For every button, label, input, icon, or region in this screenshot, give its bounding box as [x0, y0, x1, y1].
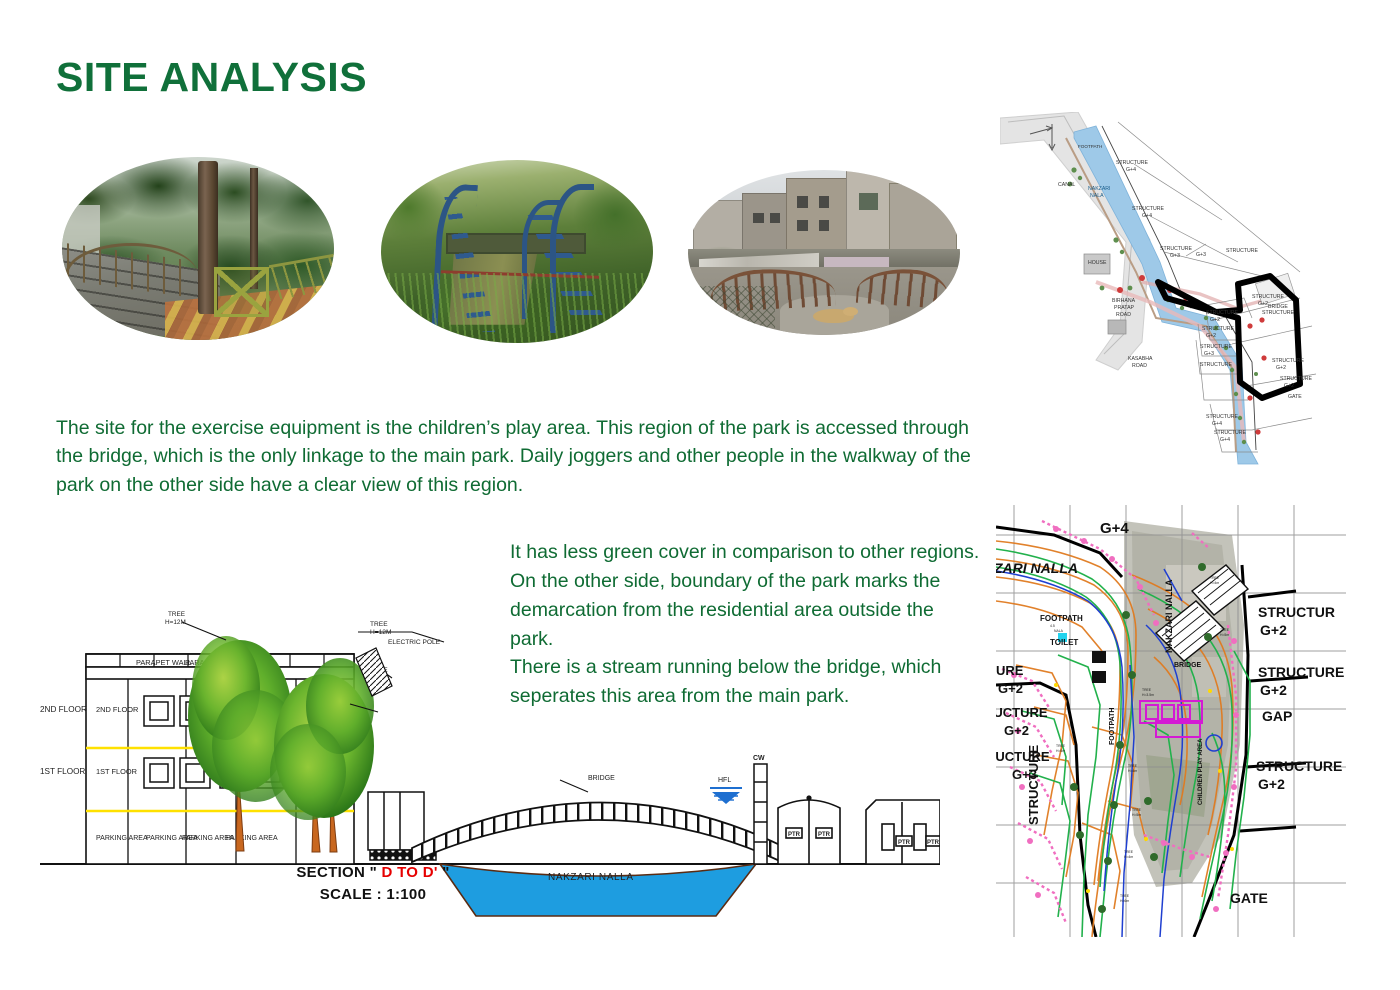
svg-text:TREE: TREE: [1220, 628, 1230, 632]
label-floor-2-inner: 2ND FLOOR: [96, 705, 138, 714]
label-ptr-4: PTR: [927, 840, 940, 846]
section-scale: SCALE : 1:100: [258, 884, 488, 906]
map-label-house: HOUSE: [1088, 260, 1107, 266]
map-label-structure-g4-a-val: G+4: [1126, 167, 1136, 173]
map-label-structure-g4-b-val: G+4: [1142, 213, 1152, 219]
label-parking-4: PARKING AREA: [226, 835, 278, 842]
map-label-structure-g4-e: STRUCTURE: [1214, 430, 1247, 436]
svg-text:TREE: TREE: [1124, 850, 1134, 854]
map-label-structure-g2-a: STRUCTURE: [1252, 294, 1285, 300]
section-drawing: PARAPET WALL PARAPET WALL 2ND FLOOR 1ST …: [40, 596, 940, 926]
label-ptr-2: PTR: [818, 832, 831, 838]
section-caption: SECTION " D TO D' " SCALE : 1:100: [258, 862, 488, 906]
map-label-kasabha-1: KASABHA: [1128, 356, 1153, 362]
svg-text:H=5m: H=5m: [1132, 813, 1141, 817]
svg-text:H=4m: H=4m: [1128, 769, 1137, 773]
play-equipment-photo: [381, 160, 653, 343]
section-marker: D TO D': [382, 864, 438, 881]
label-parapet-1: PARAPET WALL: [136, 658, 192, 667]
map-label-structure-g4-d-val: G+4: [1212, 421, 1222, 427]
map-label-bridge: BRIDGE: [1268, 304, 1288, 310]
map-label-structure-g3: STRUCTURE: [1160, 246, 1193, 252]
map-label-structure-d: STRUCTURE: [1200, 362, 1233, 368]
map-label-structure-g3-b: G+3: [1196, 252, 1206, 258]
map-label-structure-g4-b: STRUCTURE: [1132, 206, 1165, 212]
bridge-arch: [412, 802, 782, 862]
label-floor-1-inner: 1ST FLOOR: [96, 767, 137, 776]
page-title: SITE ANALYSIS: [56, 54, 367, 101]
cad-label-structure-left-c: RUCTURE: [996, 749, 1050, 764]
svg-text:H=5m: H=5m: [1220, 633, 1229, 637]
map-label-structure-g4-e-val: G+4: [1220, 437, 1230, 443]
locality-site-plan: STRUCTURE G+4 STRUCTURE G+4 STRUCTURE G+…: [1000, 112, 1355, 472]
map-label-nakzari-nala: NAKZARI: [1088, 186, 1110, 192]
cad-label-g4: G+4: [1100, 520, 1129, 537]
cad-label-footpath: FOOTPATH: [1040, 614, 1083, 623]
label-tree-tall: TREE: [168, 611, 185, 618]
label-parking-1: PARKING AREA: [96, 835, 148, 842]
label-cw-left: CW: [753, 755, 765, 762]
map-label-gate: GATE: [1288, 394, 1302, 400]
cad-label-structure-left-b: RUCTURE: [996, 705, 1048, 720]
svg-text:TREE: TREE: [1128, 764, 1138, 768]
map-label-birhana-2: PRATAP: [1114, 305, 1135, 311]
label-tree-tall-h: H=12M: [165, 619, 186, 626]
label-ptr-1: PTR: [788, 832, 801, 838]
map-label-structure-g2-e-val: G+2: [1276, 365, 1286, 371]
map-label-birhana-3: ROAD: [1116, 312, 1131, 318]
label-floor-2-outer: 2ND FLOOR: [40, 705, 87, 714]
map-label-kasabha-2: ROAD: [1132, 363, 1147, 369]
bridge-stairway-photo: [62, 157, 334, 340]
map-label-structure-g3-c-val: G+3: [1204, 351, 1214, 357]
map-label-structure-g2-f-val: G+2: [1284, 383, 1294, 389]
section-caption-prefix: SECTION ": [296, 864, 381, 881]
label-electric-pole: ELECTRIC POLE: [388, 639, 441, 646]
section-caption-suffix: ": [438, 864, 450, 881]
cw-post-left: [754, 764, 767, 864]
shed-b: [866, 800, 940, 864]
map-label-structure-g2-a-val: G+2: [1258, 301, 1268, 307]
svg-text:H=5m: H=5m: [1056, 749, 1065, 753]
site-description-paragraph: The site for the exercise equipment is t…: [56, 414, 986, 499]
cad-label-gate: GATE: [1230, 890, 1268, 906]
label-tree-right-h: H=12M: [370, 629, 391, 636]
map-label-structure-g2-c-val: G+2: [1206, 333, 1216, 339]
label-nakzari-nalla: NAKZARI NALLA: [548, 872, 634, 883]
map-label-structure-g2-b: STRUCTURE: [1206, 310, 1239, 316]
label-tree-right: TREE: [370, 621, 388, 628]
cad-label-structure-g2-a: STRUCTURE: [1258, 664, 1344, 680]
map-label-canal: CANAL: [1058, 182, 1075, 188]
cad-label-structure-g2-a-val: G+2: [1260, 682, 1287, 698]
svg-text:H=3.5m: H=3.5m: [1142, 693, 1154, 697]
label-floor-1-outer: 1ST FLOOR: [40, 767, 85, 776]
cad-label-nakzari-nalla-vertical: NAKZARI NALLA: [1164, 579, 1174, 653]
svg-text:NALA: NALA: [1054, 629, 1064, 633]
cad-label-structure-g2-b-val: G+2: [1258, 776, 1285, 792]
map-label-structure-g3-val: G+3: [1170, 253, 1180, 259]
residential-edge-photo: [688, 170, 960, 335]
cad-label-structure-vertical: STRUCTURE: [1026, 745, 1041, 825]
cad-label-nakzari-nalla-top: ZARI NALLA: [996, 560, 1078, 576]
cad-label-bridge: BRIDGE: [1174, 662, 1202, 669]
map-label-structure-g3-c: STRUCTURE: [1200, 344, 1233, 350]
cad-label-structure-left-a: TURE: [996, 663, 1024, 678]
label-hfl: HFL: [718, 777, 731, 784]
map-label-structure-g2-f: STRUCTURE: [1280, 376, 1313, 382]
detailed-cad-site-survey: G+4 ZARI NALLA FOOTPATH TOILET BRIDGE ST…: [996, 505, 1346, 937]
presentation-board: SITE ANALYSIS: [0, 0, 1400, 990]
cad-label-structure-g2-b: STRUCTURE: [1256, 758, 1342, 774]
map-label-birhana-1: BIRHANA: [1112, 298, 1136, 304]
label-bridge: BRIDGE: [588, 775, 615, 782]
cad-label-structure-left-b-val: G+2: [1004, 723, 1029, 738]
map-label-structure-b: STRUCTURE: [1262, 310, 1295, 316]
svg-text:TREE: TREE: [1056, 744, 1066, 748]
svg-text:TREE: TREE: [1132, 808, 1142, 812]
cad-label-structur-g2-val: G+2: [1260, 622, 1287, 638]
cad-label-footpath-vertical: FOOTPATH: [1109, 708, 1116, 745]
hfl-symbol: [710, 788, 742, 804]
cad-label-structur-g2: STRUCTUR: [1258, 604, 1335, 620]
svg-text:H=6m: H=6m: [1120, 899, 1129, 903]
svg-text:TREE: TREE: [1210, 576, 1220, 580]
map-label-footpath: FOOTPATH: [1078, 144, 1102, 149]
svg-text:H=4m: H=4m: [1124, 855, 1133, 859]
map-label-nakzari-nala-2: NALA: [1090, 193, 1104, 199]
svg-text:TREE: TREE: [1142, 688, 1152, 692]
map-label-structure-g2-c: STRUCTURE: [1202, 326, 1235, 332]
map-label-structure-g4-a: STRUCTURE: [1116, 160, 1149, 166]
cad-label-toilet: TOILET: [1050, 638, 1078, 647]
shed-a: [778, 796, 840, 864]
cad-label-gap: GAP: [1262, 708, 1292, 724]
svg-text:4.5: 4.5: [1050, 624, 1055, 628]
map-label-structure-g2-b-val: G+2: [1210, 317, 1220, 323]
map-label-structure-g4-c: STRUCTURE: [1226, 248, 1259, 254]
svg-text:TREE: TREE: [1120, 894, 1130, 898]
cad-label-structure-left-a-val: G+2: [998, 681, 1023, 696]
map-label-structure-g4-d: STRUCTURE: [1206, 414, 1239, 420]
cad-label-children-play-area: CHILDREN PLAY AREA: [1198, 738, 1204, 805]
label-ptr-3: PTR: [898, 840, 911, 846]
svg-text:H=4m: H=4m: [1210, 581, 1219, 585]
map-label-structure-g2-e: STRUCTURE: [1272, 358, 1305, 364]
